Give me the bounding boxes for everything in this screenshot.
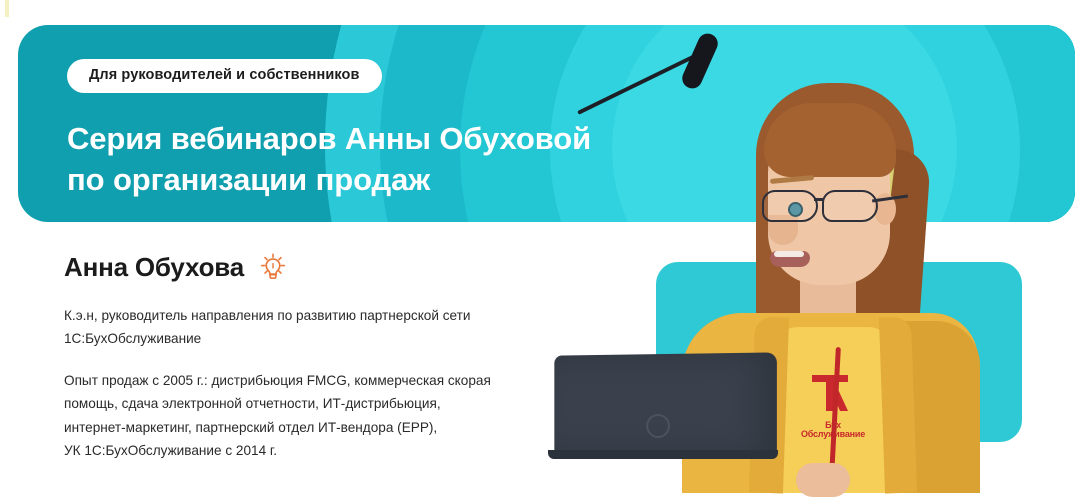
speaker-name-row: Анна Обухова <box>64 252 534 282</box>
audience-badge: Для руководителей и собственников <box>67 59 382 93</box>
ring-inner-icon <box>612 25 957 222</box>
jacket <box>682 313 978 493</box>
header-banner: Для руководителей и собственников Серия … <box>18 25 1075 222</box>
jacket-lapel-right <box>879 316 917 493</box>
hand <box>796 463 850 497</box>
laptop-base <box>548 450 778 459</box>
bio-paragraph-experience: Опыт продаж с 2005 г.: дистрибьюция FMCG… <box>64 369 534 463</box>
neck <box>800 261 856 351</box>
mouth <box>770 251 810 267</box>
tshirt <box>772 327 894 493</box>
jacket-shadow <box>898 321 980 493</box>
speaker-bio: Анна Обухова К.э.н, руководитель направл… <box>64 252 534 462</box>
company-logo-text: Бух Обслуживание <box>794 421 872 439</box>
laptop-icon <box>540 350 778 470</box>
speaker-name: Анна Обухова <box>64 253 244 282</box>
company-logo-icon <box>802 365 858 421</box>
jacket-lapel-left <box>749 316 789 493</box>
bio-paragraph-role: К.э.н, руководитель направления по разви… <box>64 304 534 351</box>
banner-content: Для руководителей и собственников Серия … <box>67 59 591 200</box>
teeth <box>774 251 804 257</box>
lanyard <box>828 347 841 495</box>
photo-backdrop-card <box>656 262 1022 442</box>
corner-accent-sliver <box>5 0 9 17</box>
lightbulb-icon <box>258 252 288 282</box>
banner-title: Серия вебинаров Анны Обуховой по организ… <box>67 118 591 200</box>
laptop-logo-icon <box>646 414 670 438</box>
laptop-lid <box>554 352 777 455</box>
